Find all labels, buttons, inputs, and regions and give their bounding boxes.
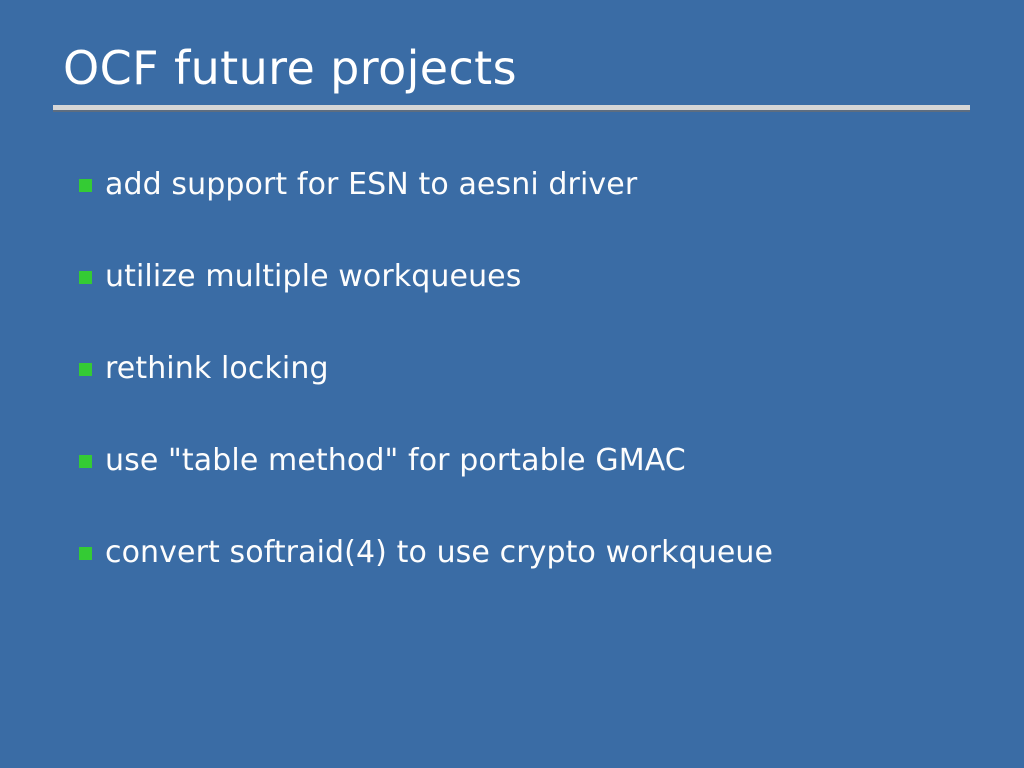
title-divider [53,105,970,112]
list-item-label: add support for ESN to aesni driver [105,160,979,207]
square-bullet-icon [79,455,92,468]
list-item: rethink locking [79,344,979,436]
square-bullet-icon [79,363,92,376]
list-item: utilize multiple workqueues [79,252,979,344]
bullet-list: add support for ESN to aesni driver util… [79,160,979,620]
slide-title-block: OCF future projects [53,38,970,112]
page-title: OCF future projects [63,38,517,98]
list-item-label: use "table method" for portable GMAC [105,436,979,483]
list-item-label: convert softraid(4) to use crypto workqu… [105,528,979,575]
square-bullet-icon [79,179,92,192]
slide-canvas: OCF future projects add support for ESN … [0,0,1024,768]
list-item-label: rethink locking [105,344,979,391]
list-item: use "table method" for portable GMAC [79,436,979,528]
square-bullet-icon [79,271,92,284]
list-item: add support for ESN to aesni driver [79,160,979,252]
list-item-label: utilize multiple workqueues [105,252,979,299]
square-bullet-icon [79,547,92,560]
list-item: convert softraid(4) to use crypto workqu… [79,528,979,620]
